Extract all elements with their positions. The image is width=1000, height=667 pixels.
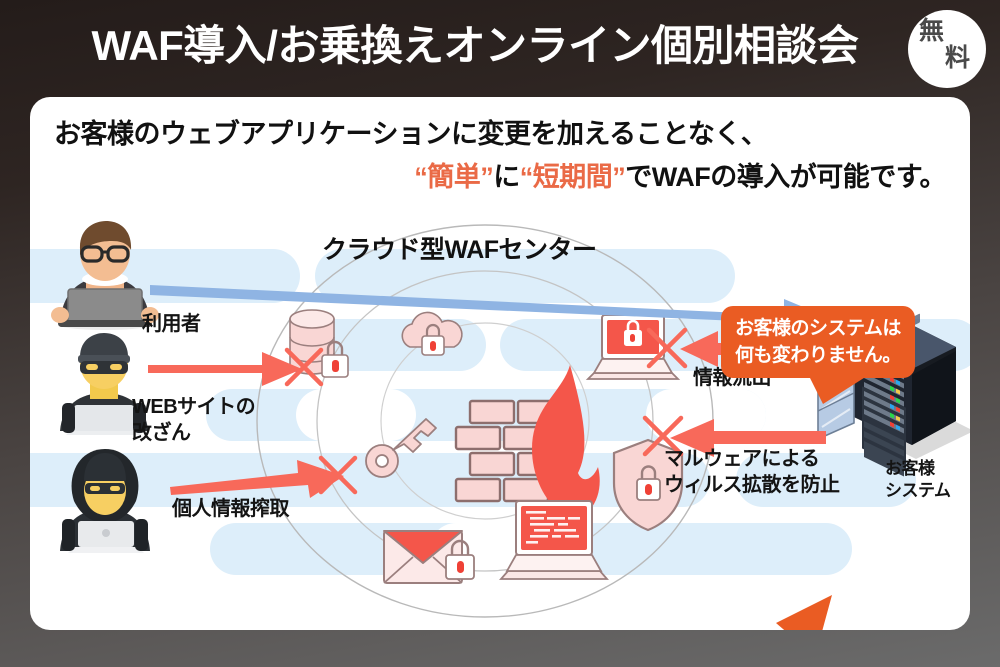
label-malware-line-1: マルウェアによる: [664, 446, 840, 472]
label-customer-system: お客様 システム: [885, 458, 951, 502]
callout-no-change: お客様のシステムは 何も変わりません。: [721, 306, 915, 378]
label-deface-line-2: 改ざん: [132, 420, 255, 446]
free-badge: 無 料: [908, 10, 986, 88]
label-user: 利用者: [142, 311, 201, 337]
label-deface-line-1: WEBサイトの: [132, 394, 255, 420]
content-card: お客様のウェブアプリケーションに変更を加えることなく、 “簡単”に“短期間”でW…: [30, 97, 970, 630]
subtitle-line-1: お客様のウェブアプリケーションに変更を加えることなく、: [54, 115, 946, 153]
envelope-lock-icon: [380, 519, 486, 595]
subtitle-highlight-easy: “簡単”: [414, 162, 493, 192]
subtitle-connector: に: [493, 162, 520, 192]
label-malware-line-2: ウィルス拡散を防止: [664, 472, 840, 498]
free-badge-char-2: 料: [945, 46, 970, 71]
label-system-line-2: システム: [885, 480, 951, 502]
page-header: WAF導入/お乗換えオンライン個別相談会 無 料: [0, 0, 1000, 97]
attacker-hoodie-figure-icon: [54, 443, 156, 555]
callout-tail: [809, 376, 867, 404]
diagram-area: 利用者 WEBサイトの 改ざん 個人情報搾取 情報流出 マルウェアによる ウィル…: [30, 201, 970, 630]
callout-no-change-line-1: お客様のシステムは: [735, 315, 901, 342]
subtitle-tail: でWAFの導入が可能です。: [625, 162, 946, 192]
block-x-mark-2: [316, 453, 360, 497]
label-malware: マルウェアによる ウィルス拡散を防止: [664, 446, 840, 498]
callout-no-change-line-2: 何も変わりません。: [735, 342, 901, 369]
free-badge-char-1: 無: [919, 19, 944, 44]
block-x-mark-1: [282, 345, 326, 389]
page-title: WAF導入/お乗換えオンライン個別相談会: [70, 19, 880, 73]
laptop-code-icon: [500, 497, 608, 583]
center-title: クラウド型WAFセンター: [322, 230, 597, 266]
callout-pointer-arrow: [706, 593, 836, 630]
subtitle-highlight-short: “短期間”: [520, 162, 626, 192]
subtitle-line-2: “簡単”に“短期間”でWAFの導入が可能です。: [54, 158, 946, 196]
key-icon: [362, 417, 442, 481]
block-x-mark-3: [644, 325, 690, 371]
label-steal: 個人情報搾取: [172, 496, 289, 522]
subtitle-block: お客様のウェブアプリケーションに変更を加えることなく、 “簡単”に“短期間”でW…: [30, 115, 970, 196]
label-deface: WEBサイトの 改ざん: [132, 394, 255, 446]
label-system-line-1: お客様: [885, 458, 951, 480]
